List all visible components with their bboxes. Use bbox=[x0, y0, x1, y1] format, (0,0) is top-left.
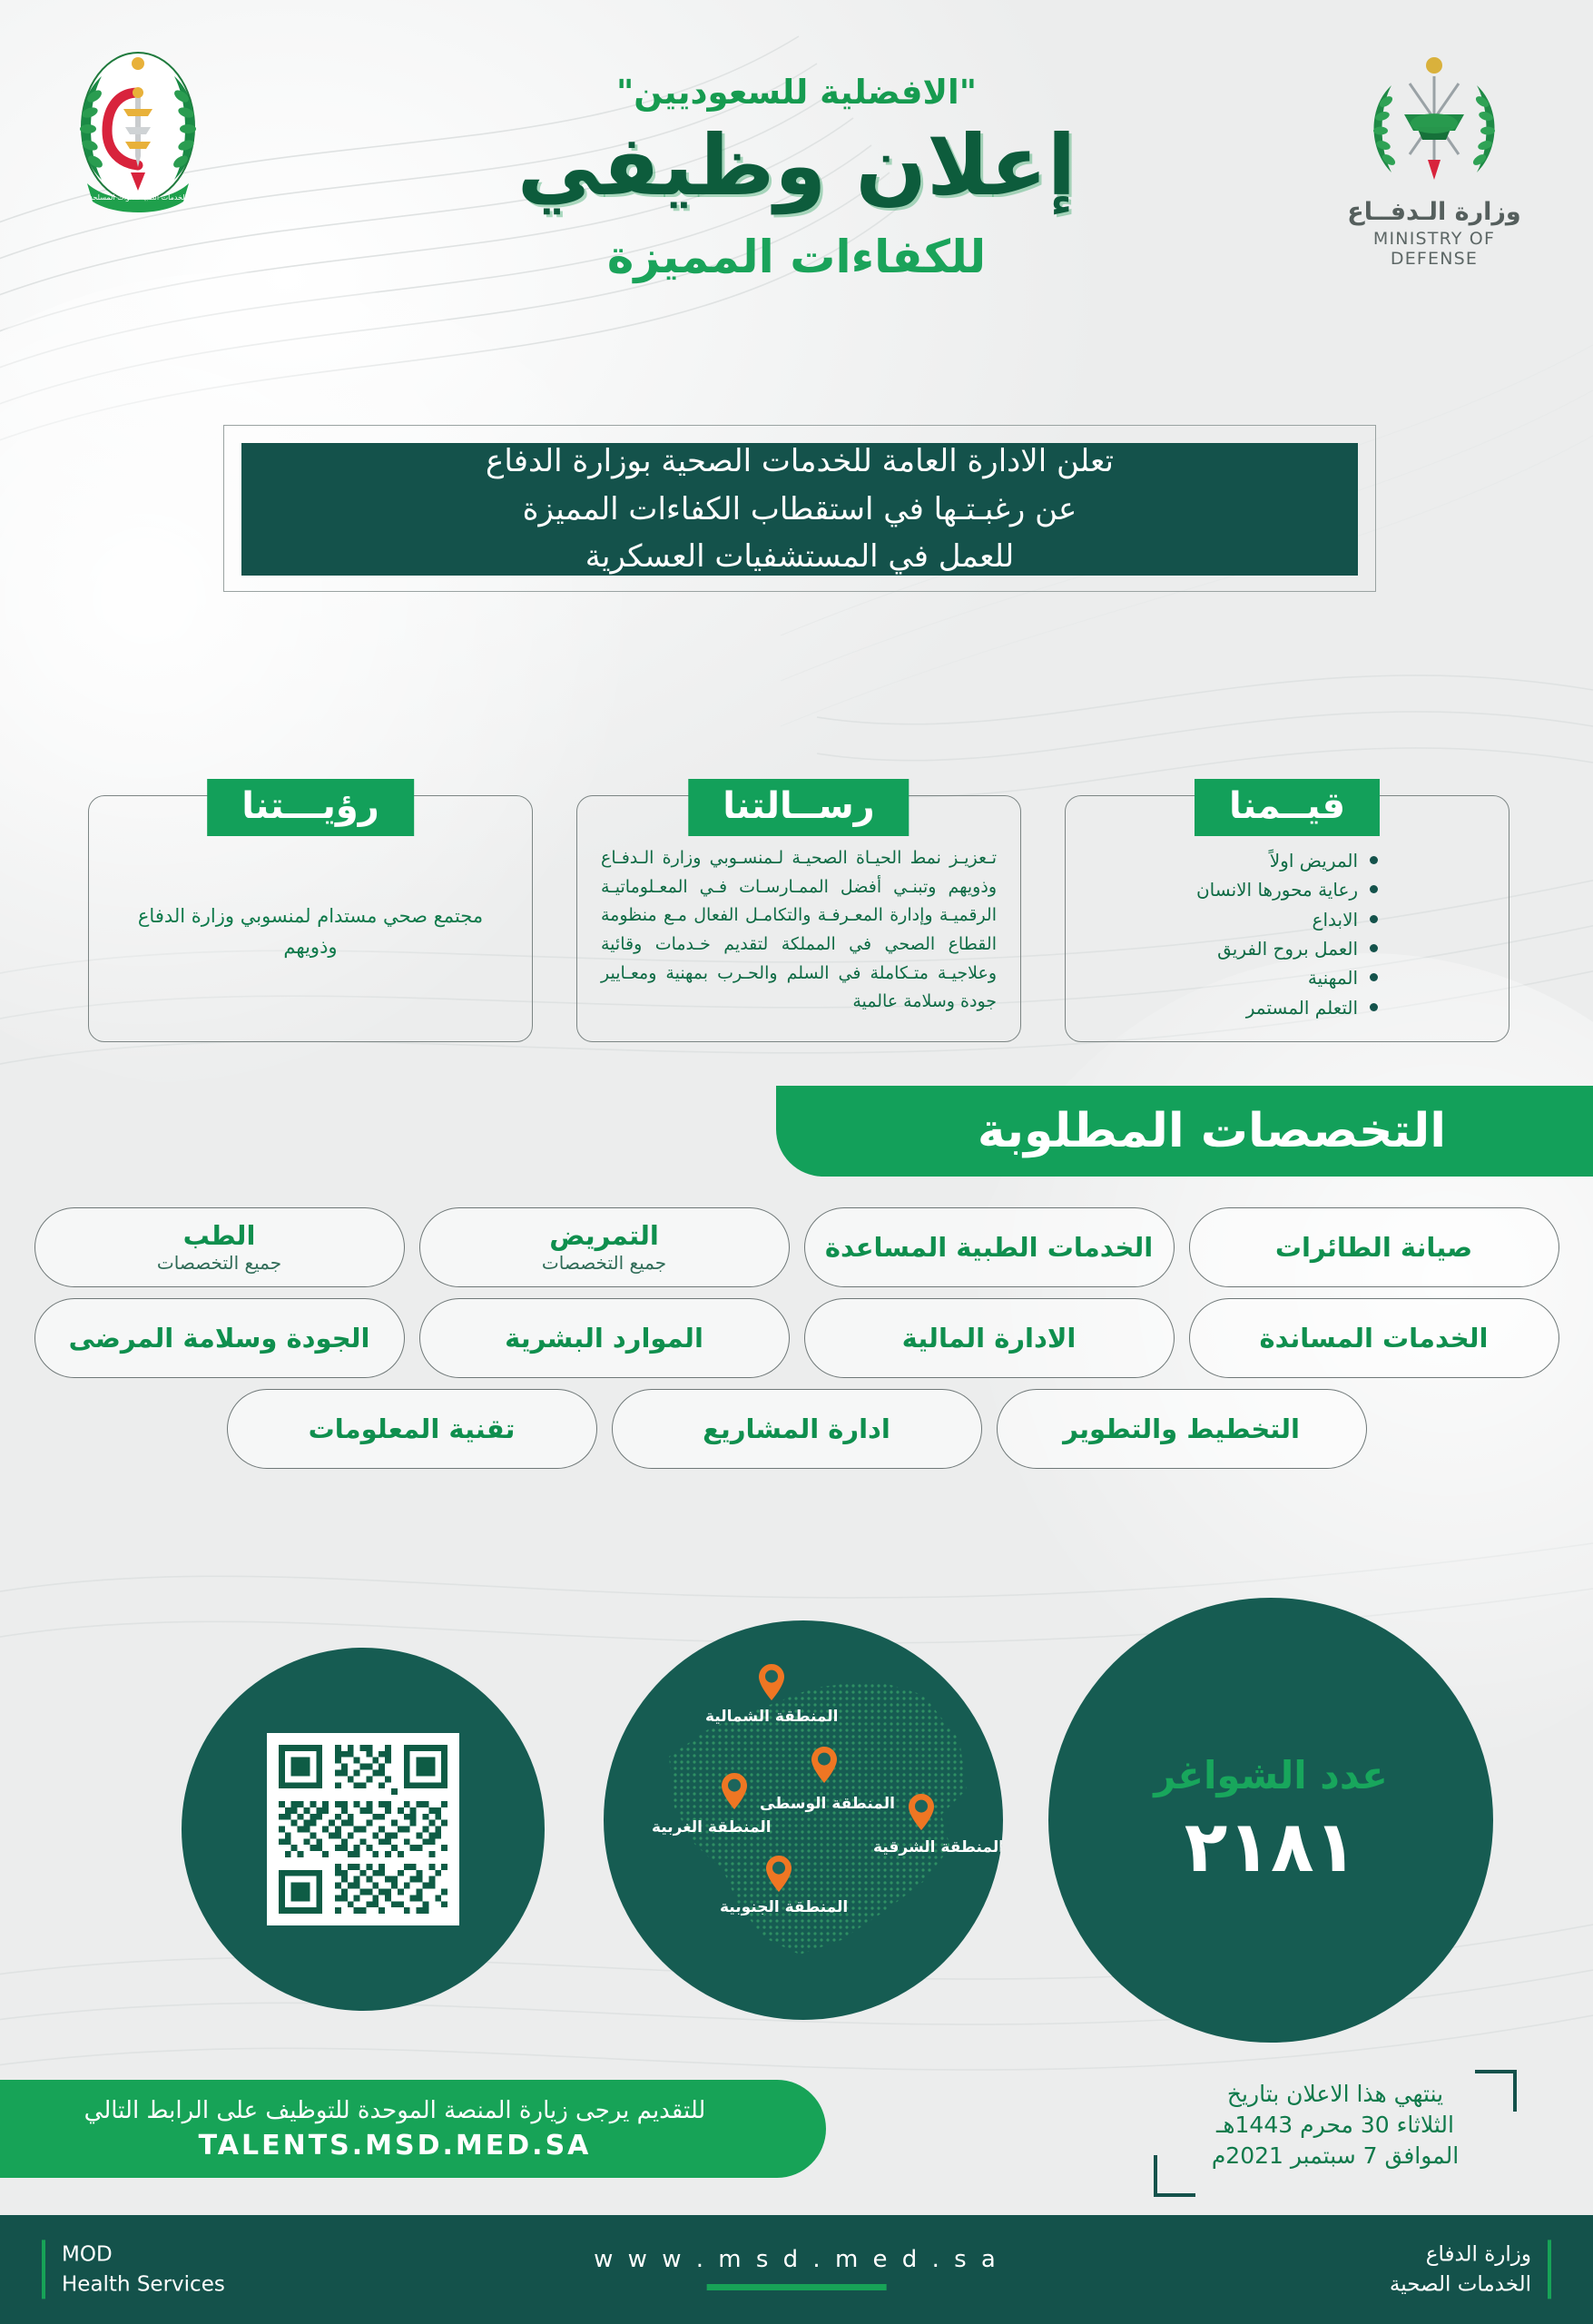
specialization-title: تقنية المعلومات bbox=[309, 1413, 516, 1444]
mission-card: تـعزيـز نمط الحيـاة الصحيـة لـمنسـوبي وز… bbox=[576, 779, 1021, 1042]
footer-org-arabic: وزارة الدفاع الخدمات الصحية bbox=[1390, 2240, 1551, 2299]
specialization-pill[interactable]: تقنية المعلومات bbox=[227, 1389, 597, 1469]
specializations-row-3: التخطيط والتطوير ادارة المشاريع تقنية ال… bbox=[0, 1389, 1593, 1469]
footer-org-en-line-1: MOD bbox=[62, 2240, 225, 2270]
vision-card-heading: رؤيـــتنا bbox=[207, 779, 414, 836]
vacancies-count: ٢١٨١ bbox=[1185, 1807, 1357, 1888]
list-item: المهنية bbox=[1196, 963, 1378, 992]
specialization-title: صيانة الطائرات bbox=[1275, 1232, 1472, 1263]
specialization-title: التخطيط والتطوير bbox=[1063, 1413, 1300, 1444]
specialization-pill[interactable]: الخدمات الطبية المساعدة bbox=[804, 1207, 1175, 1287]
specializations-list: صيانة الطائرات الخدمات الطبية المساعدة ا… bbox=[0, 1207, 1593, 1480]
specialization-title: الطب bbox=[183, 1220, 256, 1251]
mission-text: تـعزيـز نمط الحيـاة الصحيـة لـمنسـوبي وز… bbox=[577, 813, 1020, 1023]
deadline-line-1: ينتهي هذا الاعلان بتاريخ bbox=[1170, 2079, 1500, 2110]
specialization-title: ادارة المشاريع bbox=[703, 1413, 890, 1444]
specialization-subtitle: جميع التخصصات bbox=[542, 1252, 666, 1274]
vacancies-circle: عدد الشواغر ٢١٨١ bbox=[1048, 1598, 1493, 2043]
vision-text: مجتمع صحي مستدام لمنسوبي وزارة الدفاع وذ… bbox=[89, 874, 532, 962]
bracket-bottom-left bbox=[1154, 2155, 1195, 2197]
specializations-heading: التخصصات المطلوبة bbox=[776, 1086, 1593, 1177]
map-pin-icon bbox=[758, 1663, 785, 1701]
values-list: المريض اولاً رعاية محورها الانسان الابدا… bbox=[1196, 815, 1378, 1022]
map-pin-icon bbox=[908, 1793, 935, 1831]
specialization-title: الخدمات الطبية المساعدة bbox=[825, 1232, 1153, 1263]
deadline-text: ينتهي هذا الاعلان بتاريخ الثلاثاء 30 محر… bbox=[1154, 2070, 1517, 2171]
map-pin-icon bbox=[765, 1855, 792, 1893]
announcement-line-2: عن رغبـتـها في استقطاب الكفاءات المميزة bbox=[523, 488, 1077, 531]
bracket-top-right bbox=[1475, 2070, 1517, 2112]
specialization-title: الجودة وسلامة المرضى bbox=[69, 1323, 370, 1354]
specialization-pill[interactable]: الخدمات المساندة bbox=[1189, 1298, 1559, 1378]
region-label: المنطقة الجنوبية bbox=[720, 1898, 848, 1916]
values-card: المريض اولاً رعاية محورها الانسان الابدا… bbox=[1065, 779, 1509, 1042]
specialization-pill[interactable]: الادارة المالية bbox=[804, 1298, 1175, 1378]
announcement-box: تعلن الادارة العامة للخدمات الصحية بوزار… bbox=[223, 425, 1376, 592]
page-footer: وزارة الدفاع الخدمات الصحية w w w . m s … bbox=[0, 2215, 1593, 2324]
apply-bar[interactable]: للتقديم يرجى زيارة المنصة الموحدة للتوظي… bbox=[0, 2080, 826, 2178]
specialization-title: التمريض bbox=[549, 1220, 659, 1251]
region-label: المنطقة الشرقية bbox=[873, 1838, 1003, 1856]
poster-title-block: "الافضلية للسعوديين" إعلان وظيفي للكفاءا… bbox=[0, 73, 1593, 283]
page-title: إعلان وظيفي bbox=[0, 117, 1593, 214]
map-pin-icon bbox=[721, 1772, 748, 1810]
qr-circle bbox=[182, 1648, 545, 2011]
footer-website[interactable]: w w w . m s d . m e d . s a bbox=[594, 2246, 999, 2290]
specialization-title: الخدمات المساندة bbox=[1260, 1323, 1489, 1354]
specialization-pill[interactable]: ادارة المشاريع bbox=[612, 1389, 982, 1469]
footer-org-line-2: الخدمات الصحية bbox=[1390, 2270, 1531, 2299]
region-label: المنطقة الشمالية bbox=[705, 1708, 839, 1726]
specialization-pill[interactable]: صيانة الطائرات bbox=[1189, 1207, 1559, 1287]
page-subtitle: للكفاءات المميزة bbox=[0, 231, 1593, 283]
specialization-title: الادارة المالية bbox=[902, 1323, 1077, 1354]
identity-cards: المريض اولاً رعاية محورها الانسان الابدا… bbox=[0, 752, 1593, 1042]
announcement-line-1: تعلن الادارة العامة للخدمات الصحية بوزار… bbox=[486, 440, 1114, 483]
footer-org-en-line-2: Health Services bbox=[62, 2270, 225, 2299]
apply-instructions: للتقديم يرجى زيارة المنصة الموحدة للتوظي… bbox=[84, 2097, 706, 2124]
footer-org-line-1: وزارة الدفاع bbox=[1390, 2240, 1531, 2270]
specialization-pill[interactable]: الطب جميع التخصصات bbox=[34, 1207, 405, 1287]
apply-url-link[interactable]: TALENTS.MSD.MED.SA bbox=[199, 2130, 592, 2162]
specialization-pill[interactable]: الموارد البشرية bbox=[419, 1298, 790, 1378]
mission-card-heading: رســالتنا bbox=[688, 779, 909, 836]
list-item: المريض اولاً bbox=[1196, 846, 1378, 875]
vision-card: مجتمع صحي مستدام لمنسوبي وزارة الدفاع وذ… bbox=[88, 779, 533, 1042]
region-label: المنطقة الغربية bbox=[652, 1818, 772, 1837]
footer-org-english: MOD Health Services bbox=[42, 2240, 225, 2299]
map-pin-icon bbox=[811, 1746, 838, 1784]
specialization-pill[interactable]: التخطيط والتطوير bbox=[997, 1389, 1367, 1469]
list-item: العمل بروح الفريق bbox=[1196, 934, 1378, 963]
list-item: رعاية محورها الانسان bbox=[1196, 875, 1378, 904]
specialization-pill[interactable]: التمريض جميع التخصصات bbox=[419, 1207, 790, 1287]
deadline-line-2: الثلاثاء 30 محرم 1443هـ bbox=[1170, 2110, 1500, 2141]
specializations-row-1: صيانة الطائرات الخدمات الطبية المساعدة ا… bbox=[0, 1207, 1593, 1287]
region-label: المنطقة الوسطى bbox=[760, 1795, 895, 1813]
announcement-text: تعلن الادارة العامة للخدمات الصحية بوزار… bbox=[241, 443, 1358, 576]
specialization-subtitle: جميع التخصصات bbox=[157, 1252, 281, 1274]
tagline: "الافضلية للسعوديين" bbox=[0, 73, 1593, 112]
specialization-title: الموارد البشرية bbox=[505, 1323, 703, 1354]
info-circles: المنطقة الشمالية المنطقة الوسطى المنطقة … bbox=[0, 1584, 1593, 2038]
deadline-line-3: الموافق 7 سبتمبر 2021م bbox=[1170, 2141, 1500, 2171]
announcement-line-3: للعمل في المستشفيات العسكرية bbox=[585, 536, 1014, 578]
specialization-pill[interactable]: الجودة وسلامة المرضى bbox=[34, 1298, 405, 1378]
poster-header: الخدمات الطبية للقوات المسلحة bbox=[0, 0, 1593, 363]
regions-map-circle: المنطقة الشمالية المنطقة الوسطى المنطقة … bbox=[604, 1620, 1003, 2020]
list-item: التعلم المستمر bbox=[1196, 993, 1378, 1022]
deadline-block: ينتهي هذا الاعلان بتاريخ الثلاثاء 30 محر… bbox=[1154, 2070, 1517, 2197]
vacancies-label: عدد الشواغر bbox=[1154, 1753, 1388, 1797]
qr-code[interactable] bbox=[267, 1733, 459, 1925]
footer-underline bbox=[707, 2284, 887, 2290]
footer-url-text: w w w . m s d . m e d . s a bbox=[594, 2246, 999, 2273]
list-item: الابداع bbox=[1196, 905, 1378, 934]
values-card-heading: قيــمنا bbox=[1195, 779, 1380, 836]
specializations-row-2: الخدمات المساندة الادارة المالية الموارد… bbox=[0, 1298, 1593, 1378]
